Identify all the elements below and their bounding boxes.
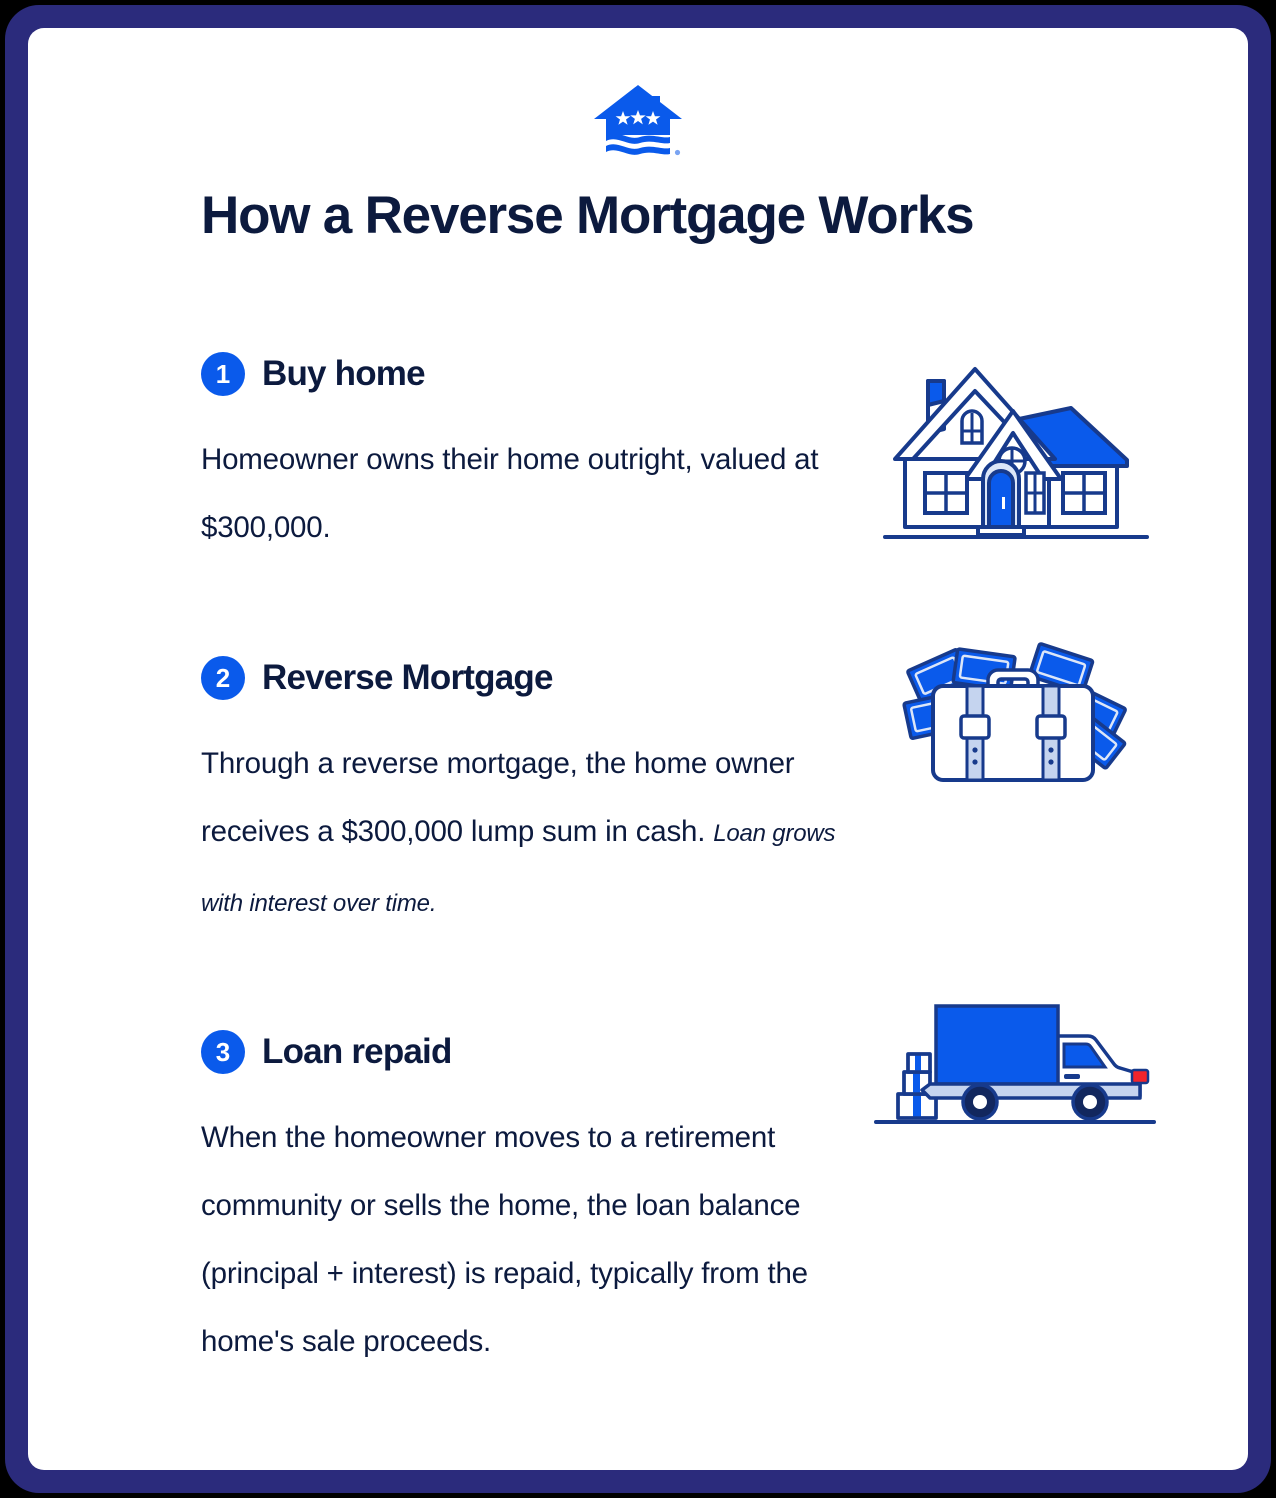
step-1-body: Homeowner owns their home outright, valu… (201, 426, 861, 562)
step-2-number-badge: 2 (201, 656, 245, 700)
briefcase-of-cash-illustration-icon (897, 640, 1129, 790)
house-stars-waves-logo-icon (592, 83, 684, 161)
step-2-body: Through a reverse mortgage, the home own… (201, 730, 861, 938)
step-3-title: Loan repaid (262, 1032, 452, 1072)
page-title: How a Reverse Mortgage Works (201, 186, 1121, 245)
step-2-title: Reverse Mortgage (262, 658, 553, 698)
step-2-body-text: Through a reverse mortgage, the home own… (201, 747, 794, 848)
infographic-frame: How a Reverse Mortgage Works 1 Buy home … (5, 5, 1271, 1493)
step-3-body: When the homeowner moves to a retirement… (201, 1104, 861, 1376)
brand-logo-container (28, 83, 1248, 161)
step-3-body-text: When the homeowner moves to a retirement… (201, 1121, 808, 1358)
step-1-title: Buy home (262, 354, 425, 394)
step-3-number-badge: 3 (201, 1030, 245, 1074)
step-1-body-text: Homeowner owns their home outright, valu… (201, 443, 818, 544)
step-1-number-badge: 1 (201, 352, 245, 396)
house-illustration-icon (883, 361, 1149, 539)
moving-truck-illustration-icon (868, 996, 1160, 1130)
infographic-card: How a Reverse Mortgage Works 1 Buy home … (28, 28, 1248, 1470)
